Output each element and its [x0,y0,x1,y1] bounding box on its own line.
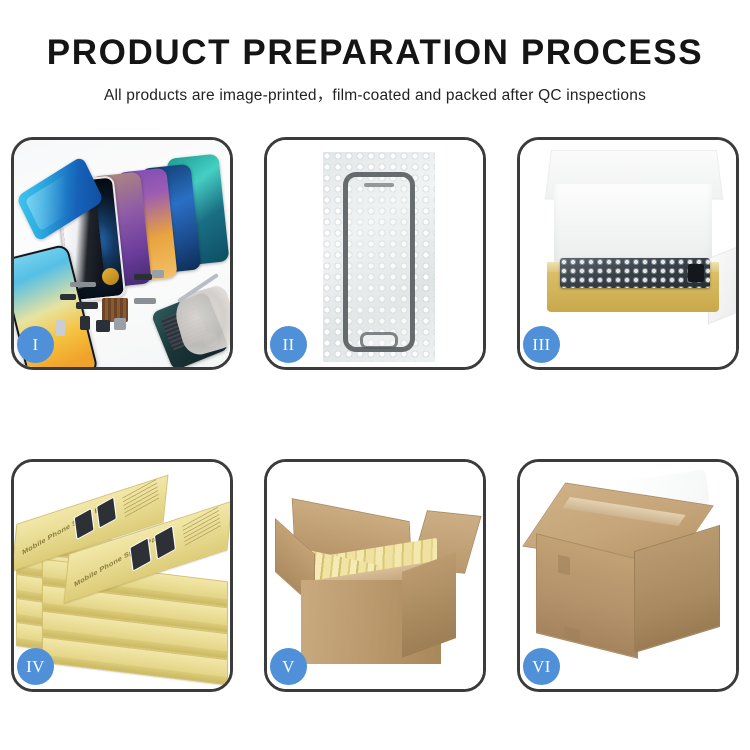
box-label-phone-image-3 [129,537,151,572]
step-badge-3: III [523,326,560,363]
earpiece-slot [364,183,394,187]
process-step-panel-3[interactable]: III [517,137,739,370]
box-label-spec-lines-2 [182,506,221,548]
process-step-panel-4[interactable]: Mobile Phone Spare Parts Mobile Phone Sp… [11,459,233,692]
part-sim-tray [56,320,65,336]
part-button-flex [152,270,164,278]
box-label-spec-lines-1 [123,479,160,518]
page-title: PRODUCT PREPARATION PROCESS [0,34,750,73]
wrapped-screen-in-box [560,258,710,288]
process-step-panel-1[interactable]: I [11,137,233,370]
bubble-wrap-sheet [323,152,435,362]
carton-notch-top [558,555,570,576]
box-label-phone-image-2 [96,496,117,528]
step-badge-6: VI [523,648,560,685]
box-label-phone-image-1 [74,508,95,540]
part-speaker [80,316,90,330]
wrapped-phone-screen [343,172,415,352]
process-step-panel-2[interactable]: II [264,137,486,370]
part-taptic-engine [114,318,126,330]
page-header: PRODUCT PREPARATION PROCESS All products… [0,0,750,105]
part-flex-cable-2 [76,302,98,309]
step-badge-1: I [17,326,54,363]
page-subtitle: All products are image-printed，film-coat… [0,83,750,105]
part-flex-cable-1 [70,282,96,287]
process-steps-grid: I II [11,137,739,692]
part-vibrator-motor [102,268,119,285]
process-step-panel-5[interactable]: V [264,459,486,692]
step-badge-2: II [270,326,307,363]
part-flex-cable-3 [134,298,156,304]
part-antenna-flex [60,294,76,300]
step-badge-5: V [270,648,307,685]
part-camera-module [96,320,110,332]
process-step-panel-6[interactable]: VI [517,459,739,692]
part-connector-1 [134,274,152,280]
box-label-phone-image-4 [154,525,176,560]
step-badge-4: IV [17,648,54,685]
